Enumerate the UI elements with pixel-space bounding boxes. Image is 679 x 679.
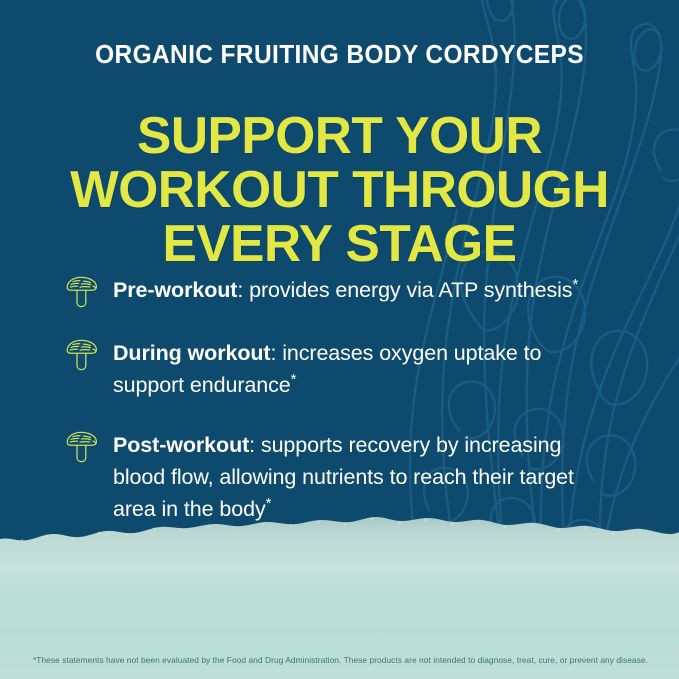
headline-line-2: WORKOUT THROUGH [3, 163, 675, 217]
benefits-list: Pre-workout: provides energy via ATP syn… [64, 274, 625, 525]
list-item: Pre-workout: provides energy via ATP syn… [64, 274, 625, 309]
footnote-marker: * [266, 495, 272, 512]
list-item-lead: During workout [113, 341, 270, 365]
eyebrow-heading: ORGANIC FRUITING BODY CORDYCEPS [14, 41, 666, 70]
list-item-separator: : [237, 278, 249, 302]
mushroom-icon [64, 338, 100, 372]
list-item-separator: : [270, 341, 282, 365]
list-item-lead: Post-workout [113, 433, 249, 457]
list-item-body: provides energy via ATP synthesis [249, 278, 572, 302]
list-item-lead: Pre-workout [113, 278, 237, 302]
list-item: Post-workout: supports recovery by incre… [64, 429, 625, 525]
list-item-text: During workout: increases oxygen uptake … [113, 337, 613, 401]
mushroom-icon [64, 275, 100, 309]
list-item-text: Post-workout: supports recovery by incre… [113, 429, 613, 525]
main-content-panel: ORGANIC FRUITING BODY CORDYCEPS SUPPORT … [0, 0, 679, 600]
page-title: SUPPORT YOUR WORKOUT THROUGH EVERY STAGE [0, 109, 679, 271]
disclaimer-footer: *These statements have not been evaluate… [0, 559, 679, 679]
list-item-separator: : [249, 433, 261, 457]
product-infographic: ORGANIC FRUITING BODY CORDYCEPS SUPPORT … [0, 0, 679, 679]
footnote-marker: * [291, 371, 297, 388]
fda-disclaimer-text: *These statements have not been evaluate… [33, 655, 657, 666]
headline-line-3: EVERY STAGE [3, 217, 675, 271]
list-item-text: Pre-workout: provides energy via ATP syn… [113, 274, 578, 306]
footnote-marker: * [572, 276, 578, 293]
list-item: During workout: increases oxygen uptake … [64, 337, 625, 401]
mushroom-icon [64, 430, 100, 464]
headline-line-1: SUPPORT YOUR [3, 109, 675, 163]
